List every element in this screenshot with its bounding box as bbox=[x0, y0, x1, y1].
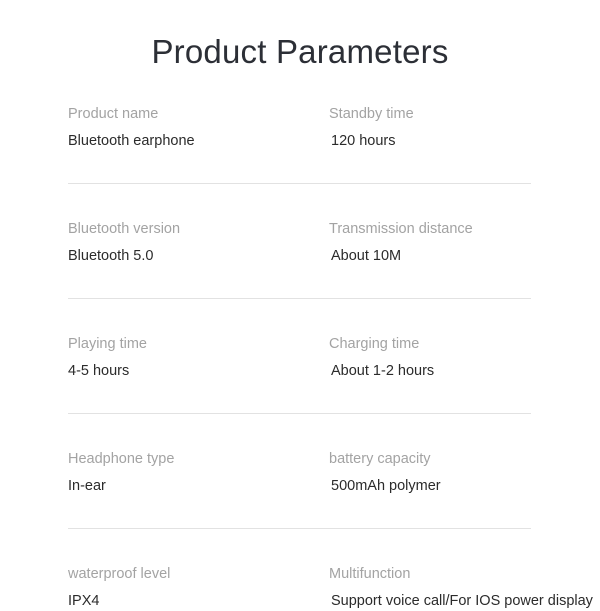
spec-value: In-ear bbox=[68, 476, 324, 496]
spec-value: Support voice call/For IOS power display bbox=[329, 591, 586, 611]
spec-label: Transmission distance bbox=[329, 219, 584, 239]
spec-value: 4-5 hours bbox=[68, 361, 324, 381]
table-row: Bluetooth version Bluetooth 5.0 Transmis… bbox=[68, 219, 584, 266]
row-spacer bbox=[68, 414, 584, 449]
table-row: waterproof level IPX4 Multifunction Supp… bbox=[68, 564, 584, 611]
spec-label: Playing time bbox=[68, 334, 324, 354]
row-spacer bbox=[68, 381, 584, 413]
spec-label: Headphone type bbox=[68, 449, 324, 469]
row-spacer bbox=[68, 151, 584, 183]
row-spacer bbox=[68, 496, 584, 528]
table-row: Product name Bluetooth earphone Standby … bbox=[68, 104, 584, 151]
spec-cell-battery-capacity: battery capacity 500mAh polymer bbox=[324, 449, 584, 496]
spec-value: 500mAh polymer bbox=[329, 476, 584, 496]
spec-value: About 10M bbox=[329, 246, 584, 266]
spec-value: IPX4 bbox=[68, 591, 324, 611]
row-spacer bbox=[68, 266, 584, 298]
spec-cell-playing-time: Playing time 4-5 hours bbox=[68, 334, 324, 381]
row-spacer bbox=[68, 529, 584, 564]
table-row: Headphone type In-ear battery capacity 5… bbox=[68, 449, 584, 496]
spec-cell-headphone-type: Headphone type In-ear bbox=[68, 449, 324, 496]
spec-cell-standby-time: Standby time 120 hours bbox=[324, 104, 584, 151]
spec-label: battery capacity bbox=[329, 449, 584, 469]
row-spacer bbox=[68, 299, 584, 334]
spec-label: Product name bbox=[68, 104, 324, 124]
spec-label: Multifunction bbox=[329, 564, 586, 584]
product-parameters-page: Product Parameters Product name Bluetoot… bbox=[0, 0, 600, 600]
spec-cell-waterproof-level: waterproof level IPX4 bbox=[68, 564, 324, 611]
specifications-table: Product name Bluetooth earphone Standby … bbox=[68, 104, 584, 611]
spec-value: Bluetooth earphone bbox=[68, 131, 324, 151]
spec-label: Standby time bbox=[329, 104, 584, 124]
spec-value: About 1-2 hours bbox=[329, 361, 584, 381]
row-spacer bbox=[68, 184, 584, 219]
spec-cell-multifunction: Multifunction Support voice call/For IOS… bbox=[324, 564, 586, 611]
spec-cell-bluetooth-version: Bluetooth version Bluetooth 5.0 bbox=[68, 219, 324, 266]
table-row: Playing time 4-5 hours Charging time Abo… bbox=[68, 334, 584, 381]
spec-label: Charging time bbox=[329, 334, 584, 354]
spec-value: Bluetooth 5.0 bbox=[68, 246, 324, 266]
spec-cell-charging-time: Charging time About 1-2 hours bbox=[324, 334, 584, 381]
spec-cell-product-name: Product name Bluetooth earphone bbox=[68, 104, 324, 151]
spec-label: Bluetooth version bbox=[68, 219, 324, 239]
spec-cell-transmission-distance: Transmission distance About 10M bbox=[324, 219, 584, 266]
spec-value: 120 hours bbox=[329, 131, 584, 151]
spec-label: waterproof level bbox=[68, 564, 324, 584]
page-title: Product Parameters bbox=[0, 30, 600, 74]
